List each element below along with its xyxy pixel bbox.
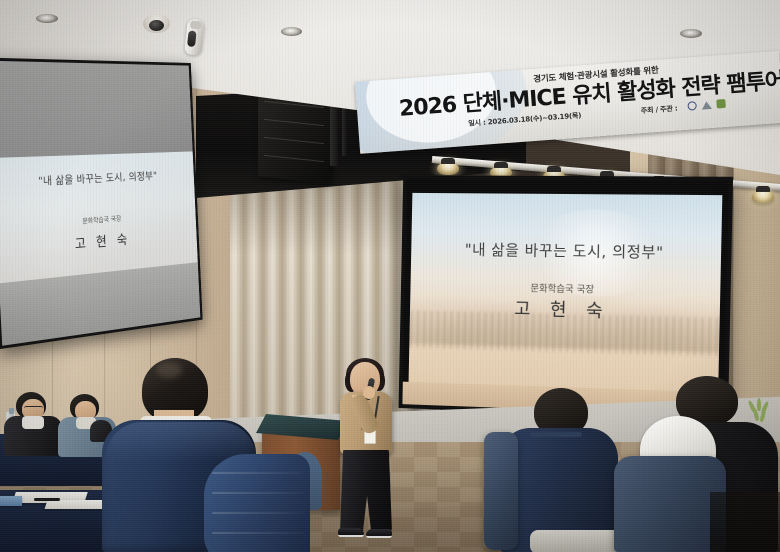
- audience-shirt-collar: [22, 416, 44, 429]
- blue-folder: [0, 496, 22, 506]
- presenter-shoe-left: [338, 528, 364, 537]
- left-screen-top-band: [0, 61, 193, 158]
- decorative-plant: [746, 398, 772, 424]
- eyeglasses-icon: [24, 406, 43, 411]
- banner-logo-row: [687, 99, 726, 111]
- presenter-hand: [363, 386, 375, 399]
- track-spotlight-icon: [752, 190, 774, 203]
- mountain-logo-icon: [701, 100, 712, 109]
- puffer-jacket-on-chair: [204, 454, 310, 552]
- dome-camera-icon: [143, 14, 170, 33]
- conference-chair: [484, 432, 518, 550]
- foreground-shadow-right: [710, 492, 780, 552]
- track-spotlight-icon: [437, 162, 459, 175]
- audience-right-navy-sweater: [500, 388, 630, 552]
- audience-front-navy-suit: [96, 358, 276, 552]
- audience-left-dark-jacket: [4, 392, 64, 452]
- presenter-trousers: [340, 450, 392, 532]
- banner-host-label: 주최 / 주관 :: [641, 103, 678, 116]
- audience-shirt-hem: [530, 530, 624, 552]
- lanyard-strap: [530, 432, 582, 437]
- downlight-icon: [36, 14, 58, 23]
- conference-photo-scene: 경기도 체험·관광시설 활성화를 위한 2026 단체·MICE 유치 활성화 …: [0, 0, 780, 552]
- gyeonggi-province-logo-icon: [687, 101, 697, 111]
- presenter-figure: [330, 362, 404, 538]
- presenter-shoe-right: [366, 529, 392, 538]
- green-org-logo-icon: [716, 99, 726, 109]
- pen-on-table: [34, 498, 60, 501]
- left-projection-screen: "내 삶을 바꾸는 도시, 의정부" 문화학습국 국장 고 현 숙: [0, 58, 203, 350]
- main-screen-slide: "내 삶을 바꾸는 도시, 의정부" 문화학습국 국장 고 현 숙: [409, 193, 722, 393]
- downlight-icon: [281, 27, 302, 36]
- downlight-icon: [680, 29, 702, 38]
- main-screen-quote: "내 삶을 바꾸는 도시, 의정부": [412, 238, 721, 264]
